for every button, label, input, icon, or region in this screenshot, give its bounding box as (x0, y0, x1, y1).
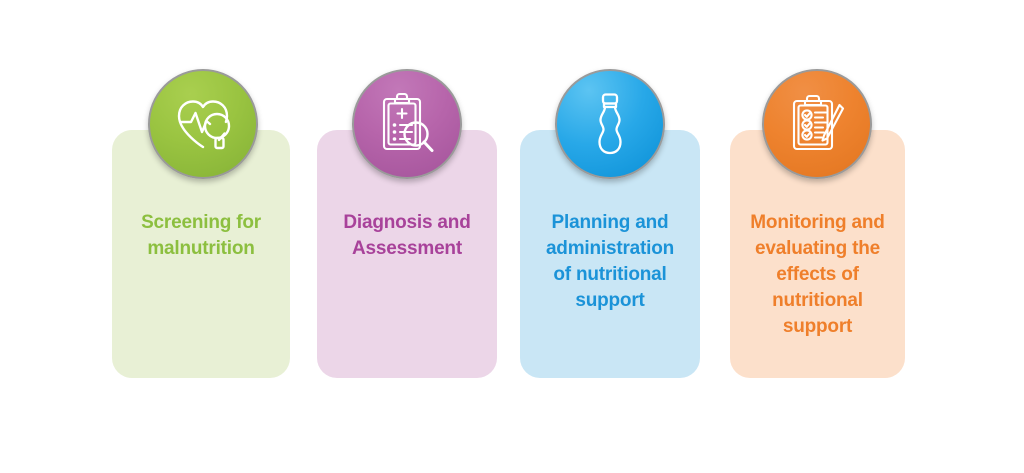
clipboard-medical-magnifier-icon (376, 92, 438, 156)
step-label-monitoring: Monitoring andevaluating theeffects ofnu… (738, 210, 897, 340)
step-label-screening: Screening formalnutrition (120, 210, 282, 262)
checklist-pencil-icon (786, 93, 848, 155)
step-badge-screening[interactable] (148, 69, 258, 179)
step-badge-planning[interactable] (555, 69, 665, 179)
step-badge-monitoring[interactable] (762, 69, 872, 179)
nutrition-bottle-icon (588, 92, 632, 156)
step-label-planning: Planning andadministrationof nutritional… (528, 210, 692, 314)
nutrition-process-infographic: Screening formalnutrition Diagnosis andA… (0, 0, 1024, 473)
step-label-diagnosis: Diagnosis andAssessment (325, 210, 489, 262)
step-badge-diagnosis[interactable] (352, 69, 462, 179)
heart-pulse-magnifier-icon (171, 94, 235, 154)
